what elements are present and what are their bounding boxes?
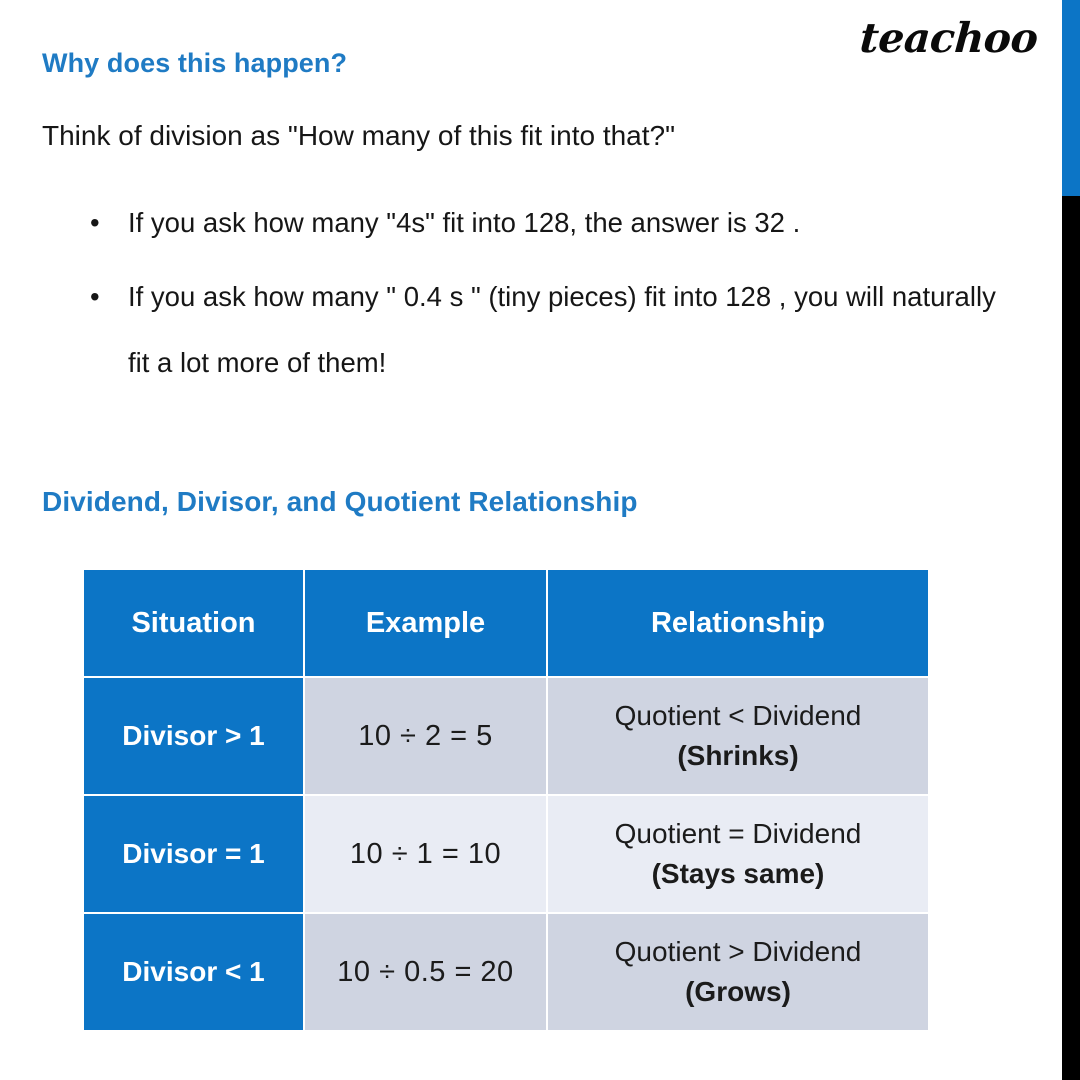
cell-relationship: Quotient = Dividend (Stays same) bbox=[548, 796, 928, 912]
table-row: Divisor < 1 10 ÷ 0.5 = 20 Quotient > Div… bbox=[84, 914, 928, 1030]
cell-relationship-note: (Grows) bbox=[554, 972, 922, 1012]
table-header-example: Example bbox=[305, 570, 546, 676]
table-header-row: Situation Example Relationship bbox=[84, 570, 928, 676]
table-row: Divisor = 1 10 ÷ 1 = 10 Quotient = Divid… bbox=[84, 796, 928, 912]
slide-content: Why does this happen? Think of division … bbox=[0, 0, 1062, 1080]
right-edge-decorative-strip bbox=[1062, 0, 1080, 1080]
cell-situation: Divisor = 1 bbox=[84, 796, 303, 912]
cell-relationship: Quotient > Dividend (Grows) bbox=[548, 914, 928, 1030]
list-item-text: If you ask how many "4s" fit into 128, t… bbox=[128, 190, 1012, 256]
relationship-table: Situation Example Relationship Divisor >… bbox=[82, 568, 930, 1032]
cell-relationship-main: Quotient > Dividend bbox=[554, 932, 922, 972]
bullet-dot-icon: • bbox=[90, 264, 100, 330]
cell-relationship: Quotient < Dividend (Shrinks) bbox=[548, 678, 928, 794]
page-title: Why does this happen? bbox=[42, 48, 347, 79]
edge-strip-blue-segment bbox=[1062, 0, 1080, 196]
table-row: Divisor > 1 10 ÷ 2 = 5 Quotient < Divide… bbox=[84, 678, 928, 794]
cell-example: 10 ÷ 2 = 5 bbox=[305, 678, 546, 794]
table-header-situation: Situation bbox=[84, 570, 303, 676]
bullet-dot-icon: • bbox=[90, 190, 100, 256]
list-item-text: If you ask how many " 0.4 s " (tiny piec… bbox=[128, 264, 1012, 396]
edge-strip-black-segment bbox=[1062, 196, 1080, 1080]
cell-relationship-main: Quotient = Dividend bbox=[554, 814, 922, 854]
cell-example: 10 ÷ 1 = 10 bbox=[305, 796, 546, 912]
bullet-list: • If you ask how many "4s" fit into 128,… bbox=[42, 190, 1012, 404]
cell-situation: Divisor > 1 bbox=[84, 678, 303, 794]
list-item: • If you ask how many "4s" fit into 128,… bbox=[42, 190, 1012, 256]
table-header-relationship: Relationship bbox=[548, 570, 928, 676]
section-heading-relationship: Dividend, Divisor, and Quotient Relation… bbox=[42, 486, 638, 518]
intro-paragraph: Think of division as "How many of this f… bbox=[42, 120, 675, 152]
cell-relationship-note: (Stays same) bbox=[554, 854, 922, 894]
cell-situation: Divisor < 1 bbox=[84, 914, 303, 1030]
cell-example: 10 ÷ 0.5 = 20 bbox=[305, 914, 546, 1030]
list-item: • If you ask how many " 0.4 s " (tiny pi… bbox=[42, 264, 1012, 396]
cell-relationship-main: Quotient < Dividend bbox=[554, 696, 922, 736]
cell-relationship-note: (Shrinks) bbox=[554, 736, 922, 776]
